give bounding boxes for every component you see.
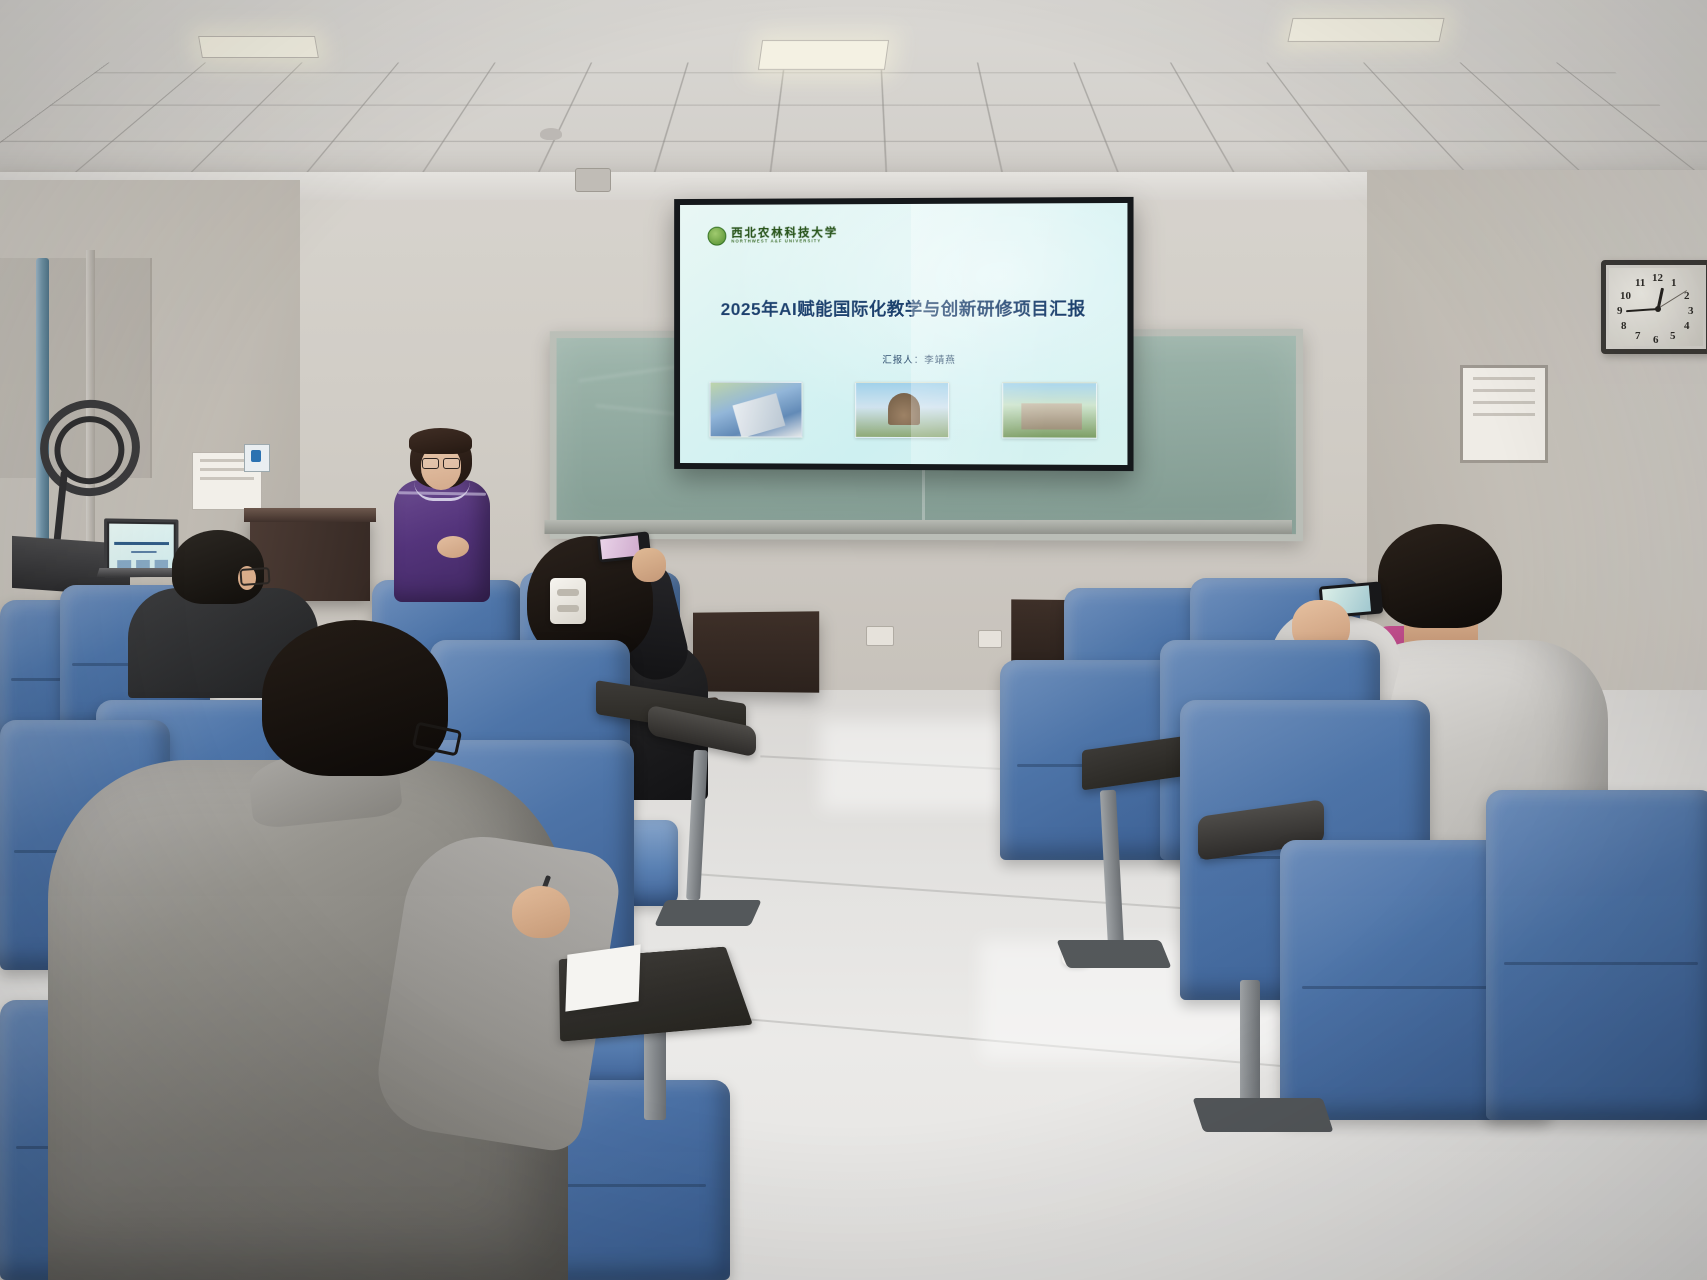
clock-numeral: 3: [1688, 305, 1694, 317]
clock-numeral: 6: [1653, 334, 1659, 346]
projection-screen: 西北农林科技大学 NORTHWEST A&F UNIVERSITY 2025年A…: [674, 197, 1133, 471]
clock-numeral: 9: [1617, 305, 1623, 317]
laptop-slide-subtitle-line: [131, 551, 156, 553]
university-crest-icon: [708, 227, 727, 246]
clock-numeral: 12: [1652, 272, 1663, 284]
classroom-photo: 12 1 2 3 4 5 6 7 8 9 10 11: [0, 0, 1707, 1280]
smoke-detector-icon: [540, 128, 562, 140]
eyeglasses-icon: [422, 458, 460, 467]
slide-photo-domed-building: [855, 382, 949, 438]
university-logo: 西北农林科技大学 NORTHWEST A&F UNIVERSITY: [708, 226, 839, 245]
slide-title: 2025年AI赋能国际化教学与创新研修项目汇报: [680, 296, 1127, 321]
chalk-tray: [545, 520, 1292, 534]
presenter-hands: [437, 536, 469, 558]
clock-numeral: 7: [1635, 330, 1641, 342]
slide-surface: 西北农林科技大学 NORTHWEST A&F UNIVERSITY 2025年A…: [680, 203, 1127, 465]
clock-numeral: 4: [1684, 320, 1690, 332]
clock-numeral: 11: [1635, 277, 1645, 289]
clock-minute-hand: [1626, 308, 1658, 312]
hair-clip: [550, 578, 586, 624]
clock-numeral: 5: [1670, 330, 1676, 342]
wall-sign-icon: [244, 444, 270, 472]
laptop-slide-title-line: [114, 542, 169, 545]
university-name-en: NORTHWEST A&F UNIVERSITY: [731, 240, 838, 245]
seat-foot: [654, 900, 762, 926]
auditorium-seat[interactable]: [1486, 790, 1707, 1120]
laptop-screen: [109, 524, 174, 573]
note-paper[interactable]: [565, 944, 640, 1011]
wall-clock: 12 1 2 3 4 5 6 7 8 9 10 11: [1601, 260, 1707, 354]
laptop-base: [97, 568, 184, 577]
presenter-fringe: [409, 428, 472, 454]
ceiling-light-panel: [1287, 18, 1444, 42]
eyeglasses-icon: [239, 567, 270, 586]
attendee-hand: [632, 548, 666, 582]
ceiling-light-panel: [198, 36, 319, 58]
student-desk: [693, 611, 819, 692]
seat-foot: [1056, 940, 1171, 968]
attendee-hand: [512, 886, 570, 938]
projector-speaker: [575, 168, 611, 192]
clock-numeral: 8: [1621, 320, 1627, 332]
seat-foot: [1192, 1098, 1333, 1132]
slide-photo-campus-building: [1002, 382, 1097, 439]
slide-presenter: 汇报人：李靖燕: [680, 352, 1127, 366]
lectern-top: [244, 508, 376, 522]
clock-numeral: 10: [1620, 290, 1631, 302]
picture-frame: [1460, 365, 1548, 463]
attendee-hair: [262, 620, 448, 776]
attendee-hair: [1378, 524, 1502, 628]
clock-face: 12 1 2 3 4 5 6 7 8 9 10 11: [1609, 268, 1703, 346]
slide-photo-strip: [710, 382, 1097, 437]
power-outlet[interactable]: [978, 630, 1002, 648]
clock-numeral: 1: [1671, 277, 1677, 289]
clock-center-cap: [1655, 306, 1661, 312]
wall-pipe: [36, 258, 49, 558]
power-outlet[interactable]: [866, 626, 894, 646]
ceiling-light-panel: [758, 40, 889, 70]
slide-photo-passport-flag: [710, 382, 803, 438]
